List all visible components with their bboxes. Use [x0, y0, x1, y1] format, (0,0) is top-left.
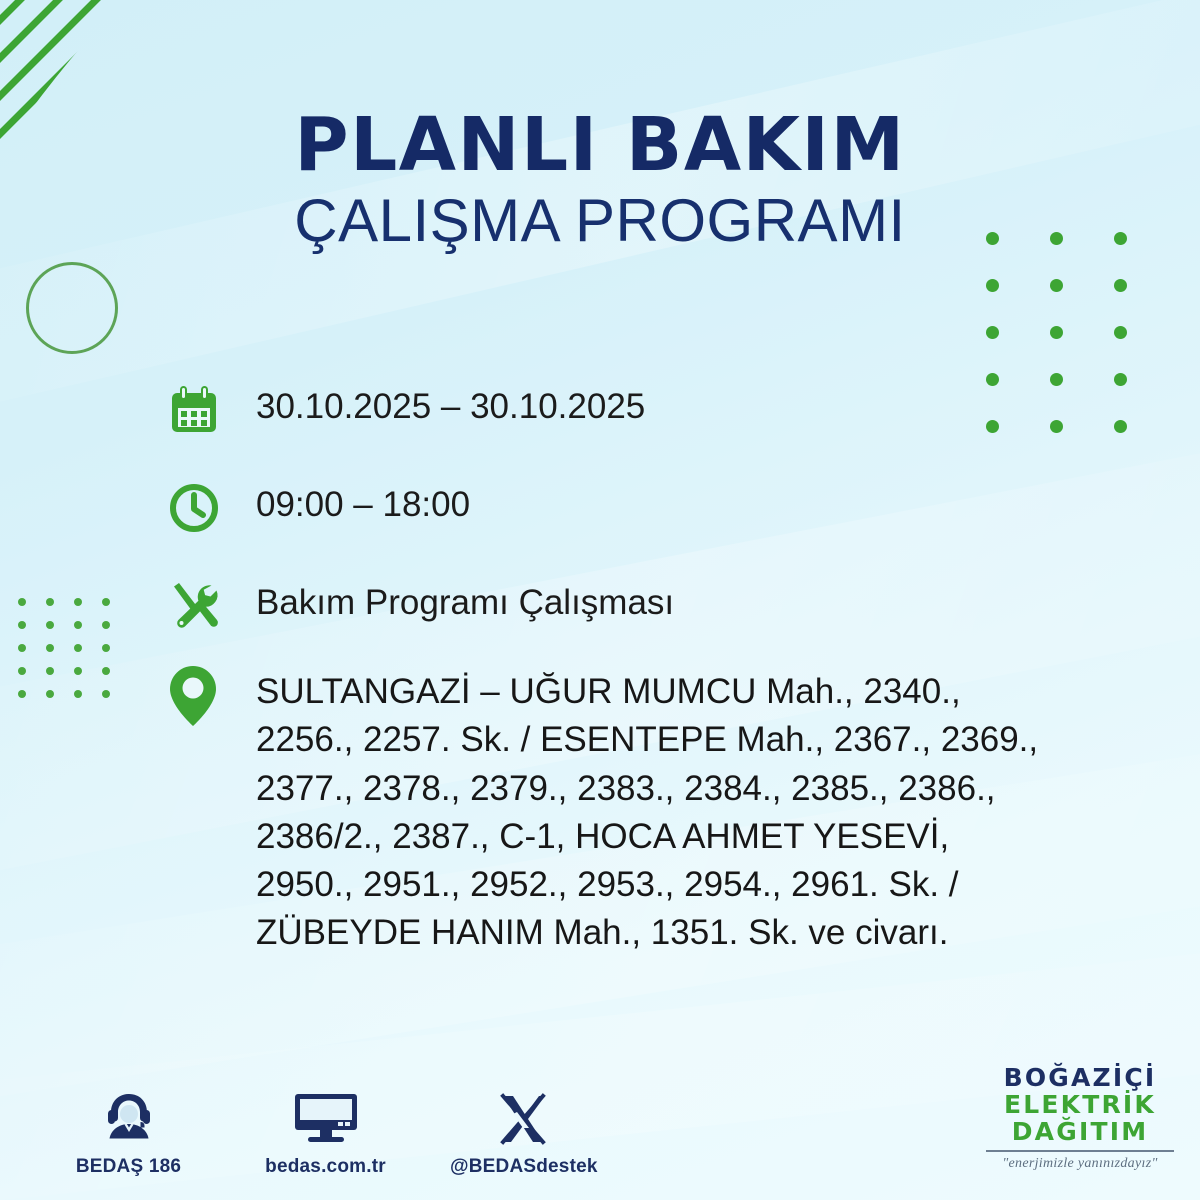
circle-outline-decoration [26, 262, 118, 354]
info-row-work-type: Bakım Programı Çalışması [168, 578, 1048, 634]
dot [1114, 326, 1127, 339]
dot [74, 644, 82, 652]
dot [18, 667, 26, 675]
contact-social[interactable]: @BEDASdestek [450, 1084, 595, 1178]
dot [46, 621, 54, 629]
date-range-text: 30.10.2025 – 30.10.2025 [256, 382, 645, 430]
dot [46, 598, 54, 606]
clock-icon [168, 480, 224, 536]
brand-line-elektrik: ELEKTRİK [980, 1091, 1180, 1118]
monitor-icon [253, 1084, 398, 1146]
time-range-text: 09:00 – 18:00 [256, 480, 470, 528]
dot [1114, 279, 1127, 292]
map-pin-icon [168, 668, 224, 724]
x-social-icon [450, 1084, 595, 1146]
contact-website-label: bedas.com.tr [253, 1156, 398, 1178]
dot [1050, 420, 1063, 433]
dot [102, 690, 110, 698]
contact-social-label: @BEDASdestek [450, 1156, 595, 1178]
info-row-date: 30.10.2025 – 30.10.2025 [168, 382, 1048, 438]
work-type-text: Bakım Programı Çalışması [256, 578, 674, 626]
page-subtitle: ÇALIŞMA PROGRAMI [0, 189, 1200, 252]
dot [102, 667, 110, 675]
info-block: 30.10.2025 – 30.10.2025 09:00 – 18:00 [168, 382, 1048, 980]
dot [1114, 373, 1127, 386]
dot [102, 644, 110, 652]
dot [1050, 279, 1063, 292]
location-text: SULTANGAZİ – UĞUR MUMCU Mah., 2340., 225… [256, 668, 1046, 958]
footer-contacts: BEDAŞ 186 bedas.com.tr [56, 1084, 595, 1178]
page-title: PLANLI BAKIM [0, 108, 1200, 183]
dot [18, 621, 26, 629]
dot [102, 598, 110, 606]
dot [1050, 326, 1063, 339]
dot [46, 690, 54, 698]
dot [74, 690, 82, 698]
calendar-icon [168, 382, 224, 438]
contact-call-center-label: BEDAŞ 186 [56, 1156, 201, 1178]
brand-logo: BOĞAZİÇİ ELEKTRİK DAĞITIM "enerjimizle y… [980, 1064, 1180, 1172]
info-row-time: 09:00 – 18:00 [168, 480, 1048, 536]
tools-icon [168, 578, 224, 634]
brand-line-bogazici: BOĞAZİÇİ [980, 1064, 1180, 1091]
contact-call-center[interactable]: BEDAŞ 186 [56, 1084, 201, 1178]
dot [1050, 373, 1063, 386]
poster-canvas: PLANLI BAKIM ÇALIŞMA PROGRAMI [0, 0, 1200, 1200]
dot [18, 644, 26, 652]
dot [102, 621, 110, 629]
dot [1114, 420, 1127, 433]
brand-line-dagitim: DAĞITIM [980, 1118, 1180, 1145]
dot [986, 279, 999, 292]
info-row-location: SULTANGAZİ – UĞUR MUMCU Mah., 2340., 225… [168, 668, 1048, 958]
dot [18, 690, 26, 698]
dot [986, 326, 999, 339]
dot [46, 667, 54, 675]
dot [18, 598, 26, 606]
brand-divider [986, 1150, 1174, 1152]
dot [74, 621, 82, 629]
dot [74, 667, 82, 675]
dot [74, 598, 82, 606]
brand-tagline: "enerjimizle yanınızdayız" [980, 1156, 1180, 1172]
contact-website[interactable]: bedas.com.tr [253, 1084, 398, 1178]
poster-header: PLANLI BAKIM ÇALIŞMA PROGRAMI [0, 108, 1200, 252]
dot [46, 644, 54, 652]
dot-grid-decoration-left [18, 598, 130, 713]
headset-support-icon [56, 1084, 201, 1146]
